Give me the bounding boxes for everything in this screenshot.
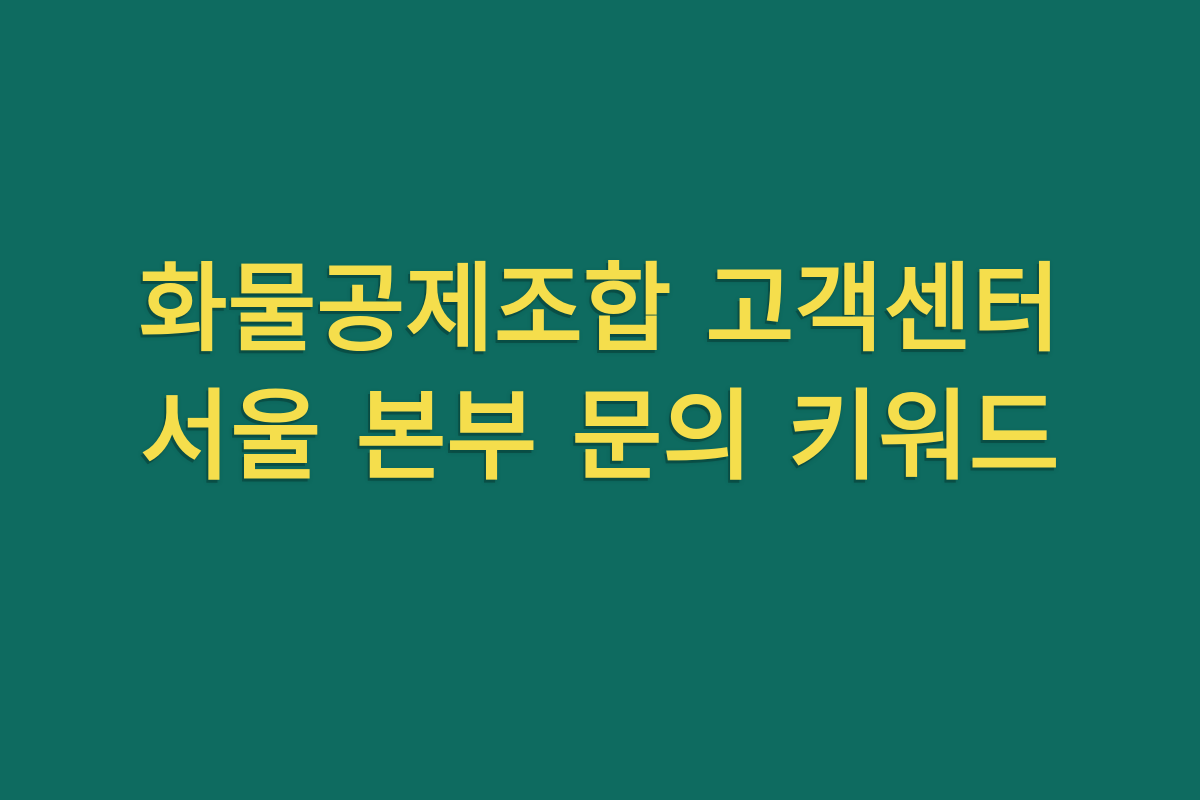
banner-canvas: 화물공제조합 고객센터 서울 본부 문의 키워드 [0,0,1200,800]
headline-line-1: 화물공제조합 고객센터 [0,246,1200,373]
headline-block: 화물공제조합 고객센터 서울 본부 문의 키워드 [0,246,1200,502]
headline-line-2: 서울 본부 문의 키워드 [0,373,1200,502]
